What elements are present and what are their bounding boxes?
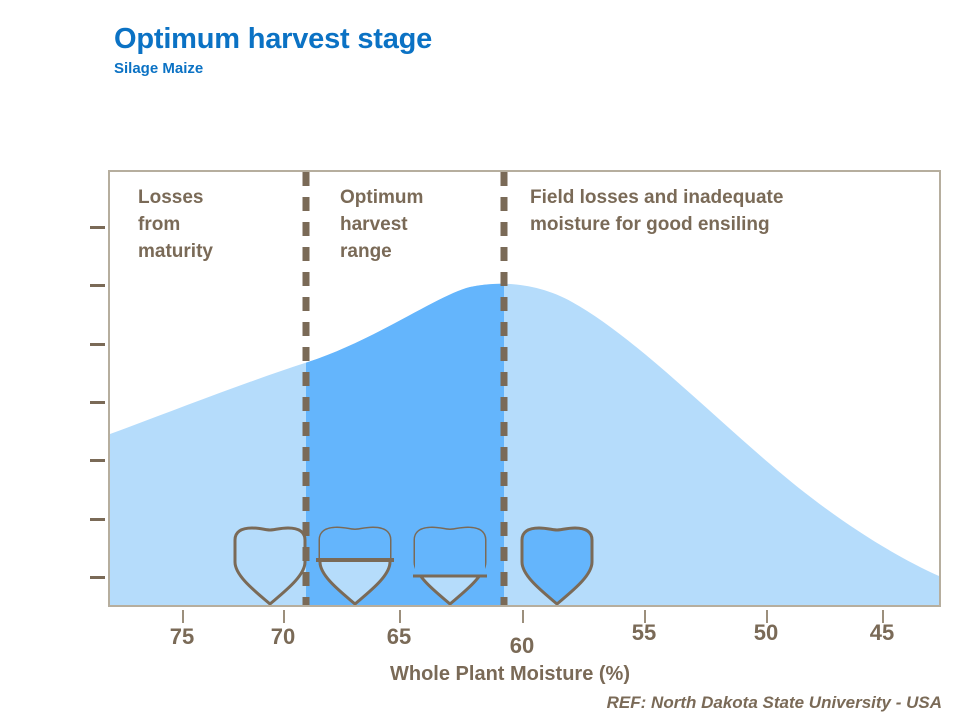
y-tick-mark-90 [90, 343, 105, 346]
x-tick-label-70: 70 [271, 624, 295, 650]
y-tick-mark-75 [90, 518, 105, 521]
x-tick-label-75: 75 [170, 624, 194, 650]
plot-area: Losses from maturity Optimum harvest ran… [108, 170, 941, 607]
y-tick-mark-95 [90, 284, 105, 287]
x-axis-title: Whole Plant Moisture (%) [0, 663, 960, 686]
page-title: Optimum harvest stage [114, 22, 432, 56]
page-subtitle: Silage Maize [114, 59, 432, 79]
x-tick-mark-75 [182, 610, 184, 623]
region-label-optimum-harvest-range: Optimum harvest range [340, 184, 423, 265]
region-label-field-losses: Field losses and inadequate moisture for… [530, 184, 783, 238]
x-tick-mark-60 [522, 610, 524, 623]
y-tick-mark-85 [90, 401, 105, 404]
y-tick-mark-80 [90, 459, 105, 462]
x-tick-label-45: 45 [870, 620, 894, 646]
x-tick-mark-65 [399, 610, 401, 623]
reference-note: REF: North Dakota State University - USA [607, 693, 942, 713]
y-tick-mark-100 [90, 226, 105, 229]
y-tick-mark-70 [90, 576, 105, 579]
region-label-losses-from-maturity: Losses from maturity [138, 184, 213, 265]
area-chart-graphic [110, 172, 939, 605]
x-tick-label-60: 60 [510, 633, 534, 659]
x-tick-label-50: 50 [754, 620, 778, 646]
x-tick-label-65: 65 [387, 624, 411, 650]
x-tick-mark-70 [283, 610, 285, 623]
title-block: Optimum harvest stage Silage Maize [114, 22, 432, 79]
x-tick-label-55: 55 [632, 620, 656, 646]
